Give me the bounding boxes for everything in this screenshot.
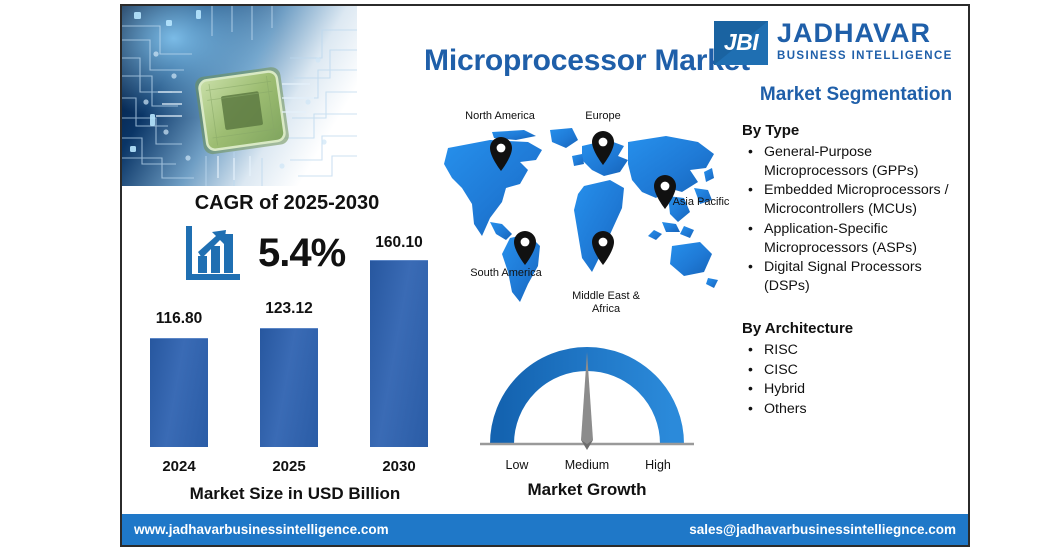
- list-item: RISC: [742, 341, 970, 360]
- gauge-tick-medium: Medium: [552, 458, 622, 472]
- segmentation-panel: Market Segmentation By Type General-Purp…: [742, 84, 970, 420]
- segmentation-title: Market Segmentation: [742, 84, 970, 106]
- logo-mark-icon: JBI: [714, 21, 768, 65]
- regional-world-map: North America Europe Asia Pacific South …: [432, 102, 732, 317]
- map-label-north-america: North America: [445, 110, 555, 123]
- list-item: Embedded Microprocessors / Microcontroll…: [742, 181, 970, 218]
- bar-chart-axis-title: Market Size in USD Billion: [130, 484, 460, 504]
- list-item: General-Purpose Microprocessors (GPPs): [742, 143, 970, 180]
- map-pin-north-america: [490, 137, 512, 171]
- bar-value-2025: 123.12: [249, 300, 329, 318]
- map-pin-middle-east-africa: [592, 231, 614, 265]
- segmentation-heading-by-type: By Type: [742, 122, 970, 139]
- gauge-title: Market Growth: [462, 480, 712, 500]
- cagr-title: CAGR of 2025-2030: [157, 192, 417, 215]
- map-pin-south-america: [514, 231, 536, 265]
- segmentation-heading-by-architecture: By Architecture: [742, 320, 970, 337]
- list-item: CISC: [742, 361, 970, 380]
- list-item: Application-Specific Microprocessors (AS…: [742, 220, 970, 257]
- brand-logo: JBI JADHAVAR BUSINESS INTELLIGENCE: [714, 20, 953, 65]
- bar-2024: [150, 338, 208, 447]
- list-item: Hybrid: [742, 380, 970, 399]
- segmentation-list-by-type: General-Purpose Microprocessors (GPPs) E…: [742, 143, 970, 296]
- infographic-root: Microprocessor Market JBI JADHAVAR BUSIN…: [0, 0, 1064, 551]
- market-growth-gauge: Low Medium High Market Growth: [462, 336, 712, 496]
- bar-category-2030: 2030: [359, 458, 439, 475]
- bar-category-2025: 2025: [249, 458, 329, 475]
- bar-2030: [370, 260, 428, 447]
- map-pin-europe: [592, 131, 614, 165]
- logo-tagline: BUSINESS INTELLIGENCE: [777, 47, 953, 65]
- footer-website[interactable]: www.jadhavarbusinessintelligence.com: [134, 522, 389, 537]
- list-item: Digital Signal Processors (DSPs): [742, 258, 970, 295]
- map-label-south-america: South America: [460, 267, 552, 280]
- gauge-tick-low: Low: [482, 458, 552, 472]
- logo-company-name: JADHAVAR: [777, 20, 953, 47]
- footer-email[interactable]: sales@jadhavarbusinessintelliegnce.com: [689, 522, 956, 537]
- gauge-tick-high: High: [623, 458, 693, 472]
- infographic-frame: Microprocessor Market JBI JADHAVAR BUSIN…: [120, 4, 970, 547]
- map-label-europe: Europe: [568, 110, 638, 123]
- bar-value-2024: 116.80: [139, 310, 219, 328]
- bar-2025: [260, 328, 318, 447]
- segmentation-list-by-architecture: RISC CISC Hybrid Others: [742, 341, 970, 419]
- map-label-asia-pacific: Asia Pacific: [670, 196, 732, 209]
- map-label-middle-east-africa: Middle East & Africa: [556, 290, 656, 315]
- bar-category-2024: 2024: [139, 458, 219, 475]
- logo-mark-text: JBI: [714, 21, 768, 65]
- footer-bar: www.jadhavarbusinessintelligence.com sal…: [122, 514, 968, 545]
- list-item: Others: [742, 400, 970, 419]
- circuit-board-image: [122, 6, 357, 186]
- market-size-bar-chart: 116.80 2024 123.12 2025 160.10 2030: [130, 246, 460, 491]
- bar-value-2030: 160.10: [359, 234, 439, 252]
